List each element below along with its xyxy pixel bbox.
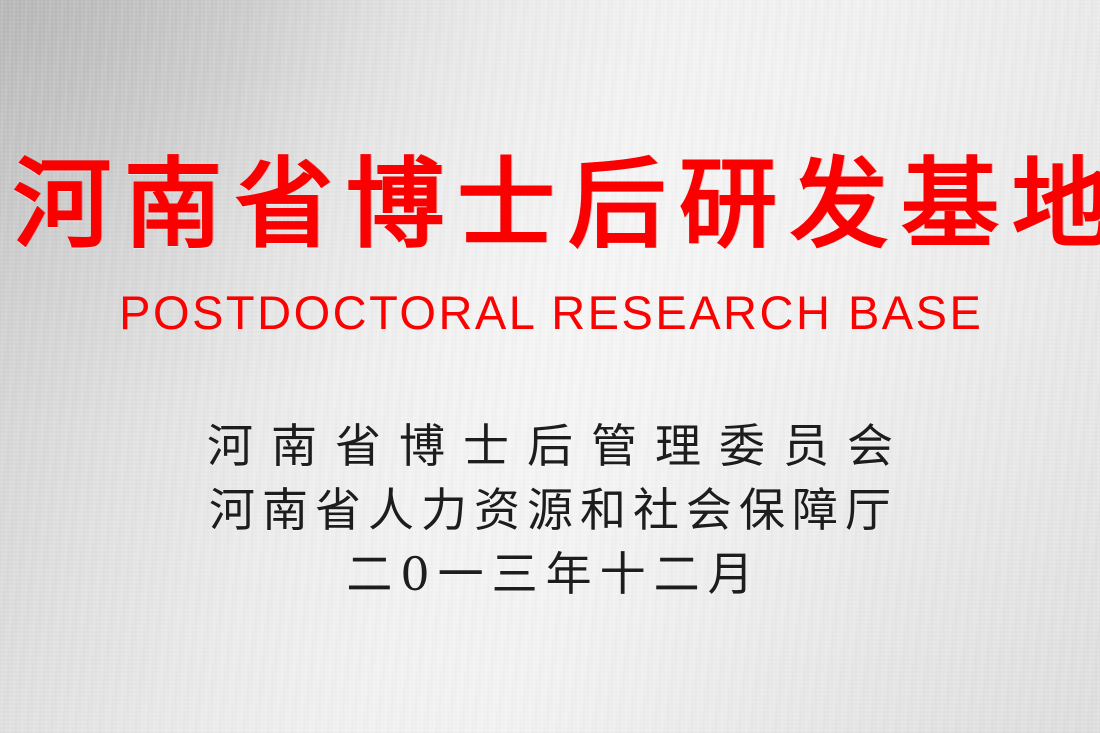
- issuer-line-committee: 河南省博士后管理委员会: [0, 414, 1100, 478]
- issuer-block: 河南省博士后管理委员会 河南省人力资源和社会保障厅 二0一三年十二月: [0, 414, 1100, 606]
- plaque-title-chinese: 河南省博士后研发基地: [0, 152, 1100, 258]
- plaque-title-english: POSTDOCTORAL RESEARCH BASE: [0, 287, 1100, 339]
- plaque-content: 河南省博士后研发基地 POSTDOCTORAL RESEARCH BASE 河南…: [0, 0, 1100, 733]
- issue-date: 二0一三年十二月: [0, 542, 1100, 606]
- issuer-line-department: 河南省人力资源和社会保障厅: [0, 478, 1100, 542]
- plaque-panel: 河南省博士后研发基地 POSTDOCTORAL RESEARCH BASE 河南…: [0, 0, 1100, 733]
